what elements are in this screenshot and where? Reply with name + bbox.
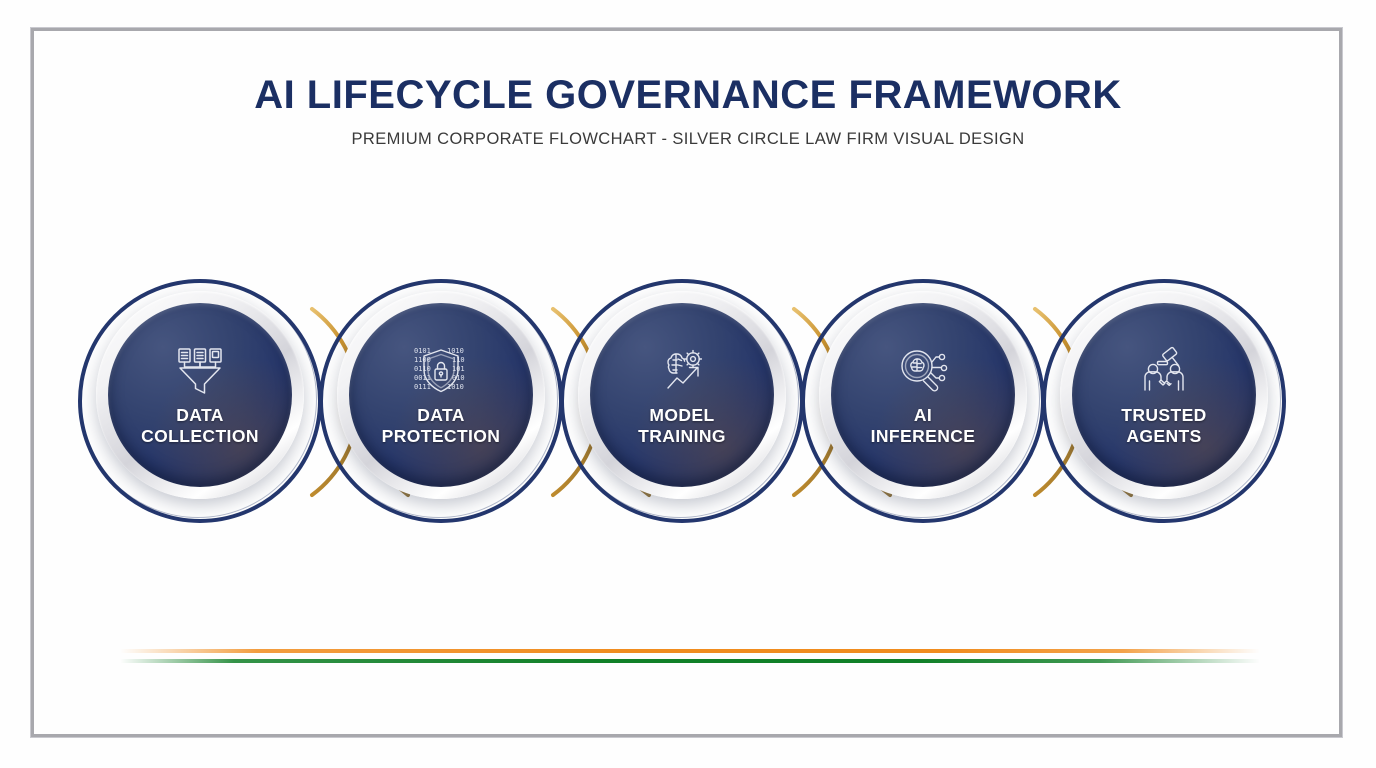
flow-step-label: MODEL TRAINING xyxy=(630,405,734,448)
svg-text:0111: 0111 xyxy=(414,383,431,391)
page-subtitle: PREMIUM CORPORATE FLOWCHART - SILVER CIR… xyxy=(0,130,1376,149)
funnel-data-sources-icon xyxy=(171,343,229,399)
flow-step-model-training[interactable]: MODEL TRAINING xyxy=(560,271,804,533)
accent-line-orange xyxy=(120,649,1260,653)
flow-step-label: DATA COLLECTION xyxy=(133,405,267,448)
silver-bevel-ring: 0101 1100 0110 0011 0111 1010 110 101 01… xyxy=(337,291,545,499)
shield-padlock-binary-icon: 0101 1100 0110 0011 0111 1010 110 101 01… xyxy=(412,343,470,399)
silver-bevel-ring: MODEL TRAINING xyxy=(578,291,786,499)
header: AI LIFECYCLE GOVERNANCE FRAMEWORK PREMIU… xyxy=(0,72,1376,149)
flow-step-label: TRUSTED AGENTS xyxy=(1113,405,1214,448)
flow-step-data-collection[interactable]: DATA COLLECTION xyxy=(78,271,322,533)
silver-bevel-ring: AI INFERENCE xyxy=(819,291,1027,499)
node-disc: MODEL TRAINING xyxy=(590,303,774,487)
flow-step-label: DATA PROTECTION xyxy=(374,405,509,448)
silver-bevel-ring: TRUSTED AGENTS xyxy=(1060,291,1268,499)
flow-step-ai-inference[interactable]: AI INFERENCE xyxy=(801,271,1045,533)
footer-accent-lines xyxy=(120,645,1260,671)
accent-line-green xyxy=(120,659,1260,663)
handshake-gavel-icon xyxy=(1135,343,1193,399)
flow-steps: DATA COLLECTION 0101 1100 0110 0011 xyxy=(0,271,1376,533)
brain-gear-growth-arrow-icon xyxy=(653,343,711,399)
page-title: AI LIFECYCLE GOVERNANCE FRAMEWORK xyxy=(0,72,1376,118)
silver-bevel-ring: DATA COLLECTION xyxy=(96,291,304,499)
node-disc: TRUSTED AGENTS xyxy=(1072,303,1256,487)
flow-step-label: AI INFERENCE xyxy=(863,405,984,448)
flow-step-trusted-agents[interactable]: TRUSTED AGENTS xyxy=(1042,271,1286,533)
node-disc: 0101 1100 0110 0011 0111 1010 110 101 01… xyxy=(349,303,533,487)
magnifier-brain-network-icon xyxy=(894,343,952,399)
svg-text:1010: 1010 xyxy=(447,347,464,355)
flow-step-data-protection[interactable]: 0101 1100 0110 0011 0111 1010 110 101 01… xyxy=(319,271,563,533)
node-disc: DATA COLLECTION xyxy=(108,303,292,487)
node-disc: AI INFERENCE xyxy=(831,303,1015,487)
slide-canvas: AI LIFECYCLE GOVERNANCE FRAMEWORK PREMIU… xyxy=(0,0,1376,768)
